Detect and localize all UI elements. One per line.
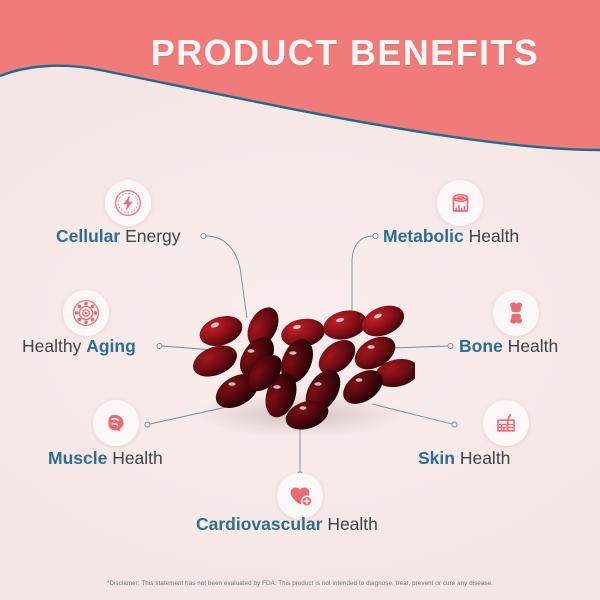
heart-plus-icon <box>277 473 323 519</box>
disclaimer-text: *Disclamer: This statement has not been … <box>0 580 600 587</box>
skin-layers-icon <box>483 400 529 446</box>
benefit-plain-word: Health <box>464 226 519 246</box>
benefit-bold-word: Metabolic <box>383 226 464 246</box>
benefit-plain-word: Healthy <box>22 336 86 356</box>
benefit-bold-word: Aging <box>86 336 136 356</box>
benefit-label-bone-health: Bone Health <box>459 338 558 356</box>
benefit-plain-word: Health <box>322 514 377 534</box>
lightning-bolt-icon <box>105 180 151 226</box>
benefit-label-cellular-energy: Cellular Energy <box>56 228 181 246</box>
benefit-label-cardiovascular-health: Cardiovascular Health <box>196 516 378 534</box>
benefit-bold-word: Muscle <box>48 448 107 468</box>
benefit-bold-word: Bone <box>459 336 503 356</box>
benefit-plain-word: Health <box>455 448 510 468</box>
benefit-label-skin-health: Skin Health <box>418 450 510 468</box>
softgel-capsules-image <box>185 295 415 440</box>
knee-joint-bone-icon <box>493 290 539 336</box>
benefit-bold-word: Cellular <box>56 226 120 246</box>
benefit-plain-word: Health <box>107 448 162 468</box>
benefit-plain-word: Health <box>503 336 558 356</box>
measuring-tape-icon <box>437 180 483 226</box>
benefit-label-healthy-aging: Healthy Aging <box>22 338 136 356</box>
benefit-label-muscle-health: Muscle Health <box>48 450 163 468</box>
benefit-bold-word: Skin <box>418 448 455 468</box>
benefit-bold-word: Cardiovascular <box>196 514 322 534</box>
flower-burst-icon <box>63 290 109 336</box>
infographic-canvas: PRODUCT BENEFITS <box>0 0 600 600</box>
benefit-label-metabolic-health: Metabolic Health <box>383 228 519 246</box>
benefit-plain-word: Energy <box>120 226 180 246</box>
flexed-bicep-icon <box>93 400 139 446</box>
